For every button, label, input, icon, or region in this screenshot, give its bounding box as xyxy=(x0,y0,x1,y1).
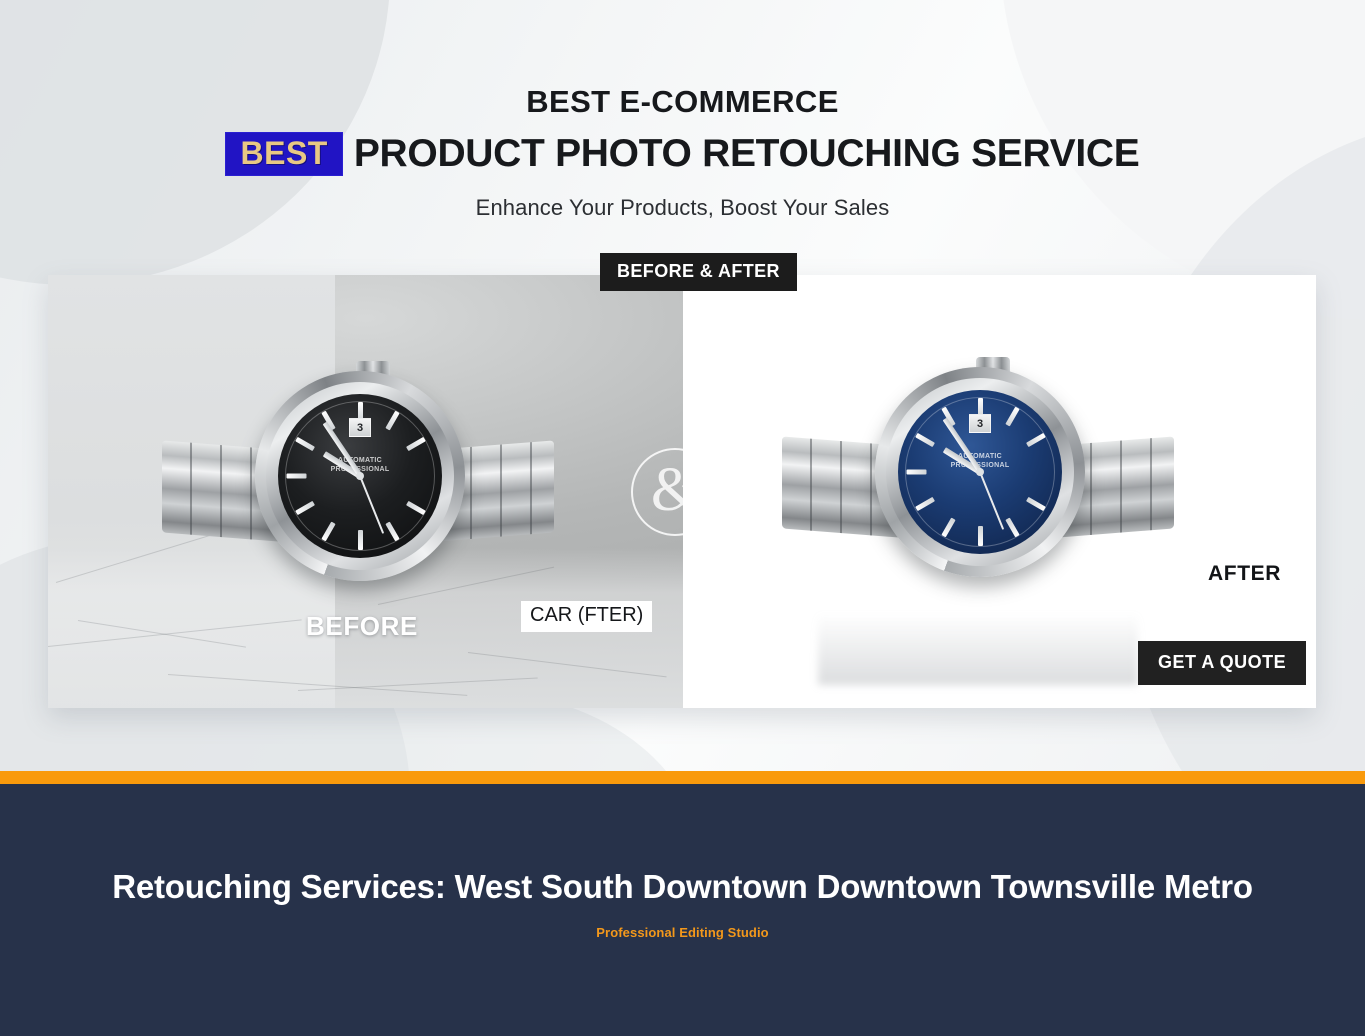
after-label: AFTER xyxy=(1208,562,1281,586)
before-watch-dial: 3 AUTOMATIC PROFESSIONAL xyxy=(278,394,442,558)
footer-title: Retouching Services: West South Downtown… xyxy=(0,868,1365,906)
after-watch-dial: 3 AUTOMATIC PROFESSIONAL xyxy=(898,390,1062,554)
after-watch-reflection xyxy=(818,613,1138,685)
footer-subtitle: Professional Editing Studio xyxy=(0,925,1365,940)
before-hand-pivot xyxy=(356,472,364,480)
before-panel: 3 AUTOMATIC PROFESSIONAL xyxy=(48,275,683,708)
before-watch-bezel: 3 AUTOMATIC PROFESSIONAL xyxy=(266,382,454,570)
after-watch-bezel: 3 AUTOMATIC PROFESSIONAL xyxy=(886,378,1074,566)
hero-title-row: BEST PRODUCT PHOTO RETOUCHING SERVICE xyxy=(0,132,1365,176)
before-date-window: 3 xyxy=(349,418,371,437)
before-after-tag: BEFORE & AFTER xyxy=(600,253,797,291)
after-watch-image: 3 AUTOMATIC PROFESSIONAL xyxy=(778,357,1178,617)
before-after-card[interactable]: 3 AUTOMATIC PROFESSIONAL xyxy=(48,275,1316,708)
before-watch-image: 3 AUTOMATIC PROFESSIONAL xyxy=(158,361,558,621)
footer-section: Retouching Services: West South Downtown… xyxy=(0,784,1365,1036)
after-hand-pivot xyxy=(976,468,984,476)
hero-eyebrow: BEST E-COMMERCE xyxy=(0,84,1365,120)
hero-heading-group: BEST E-COMMERCE BEST PRODUCT PHOTO RETOU… xyxy=(0,84,1365,221)
before-watch-case: 3 AUTOMATIC PROFESSIONAL xyxy=(255,371,465,581)
hero-subtitle: Enhance Your Products, Boost Your Sales xyxy=(0,195,1365,221)
ampersand-divider-icon: & xyxy=(631,448,719,536)
page-title: PRODUCT PHOTO RETOUCHING SERVICE xyxy=(354,132,1140,176)
after-date-window: 3 xyxy=(969,414,991,433)
after-watch-case: 3 AUTOMATIC PROFESSIONAL xyxy=(875,367,1085,577)
before-overlay-label: CAR (FTER) xyxy=(521,601,652,632)
orange-accent-bar xyxy=(0,771,1365,784)
promo-banner-page: BEST E-COMMERCE BEST PRODUCT PHOTO RETOU… xyxy=(0,0,1365,1036)
get-a-quote-button[interactable]: GET A QUOTE xyxy=(1138,641,1306,685)
ampersand-glyph: & xyxy=(651,459,699,521)
before-label: BEFORE xyxy=(306,611,418,642)
best-badge: BEST xyxy=(225,132,342,176)
